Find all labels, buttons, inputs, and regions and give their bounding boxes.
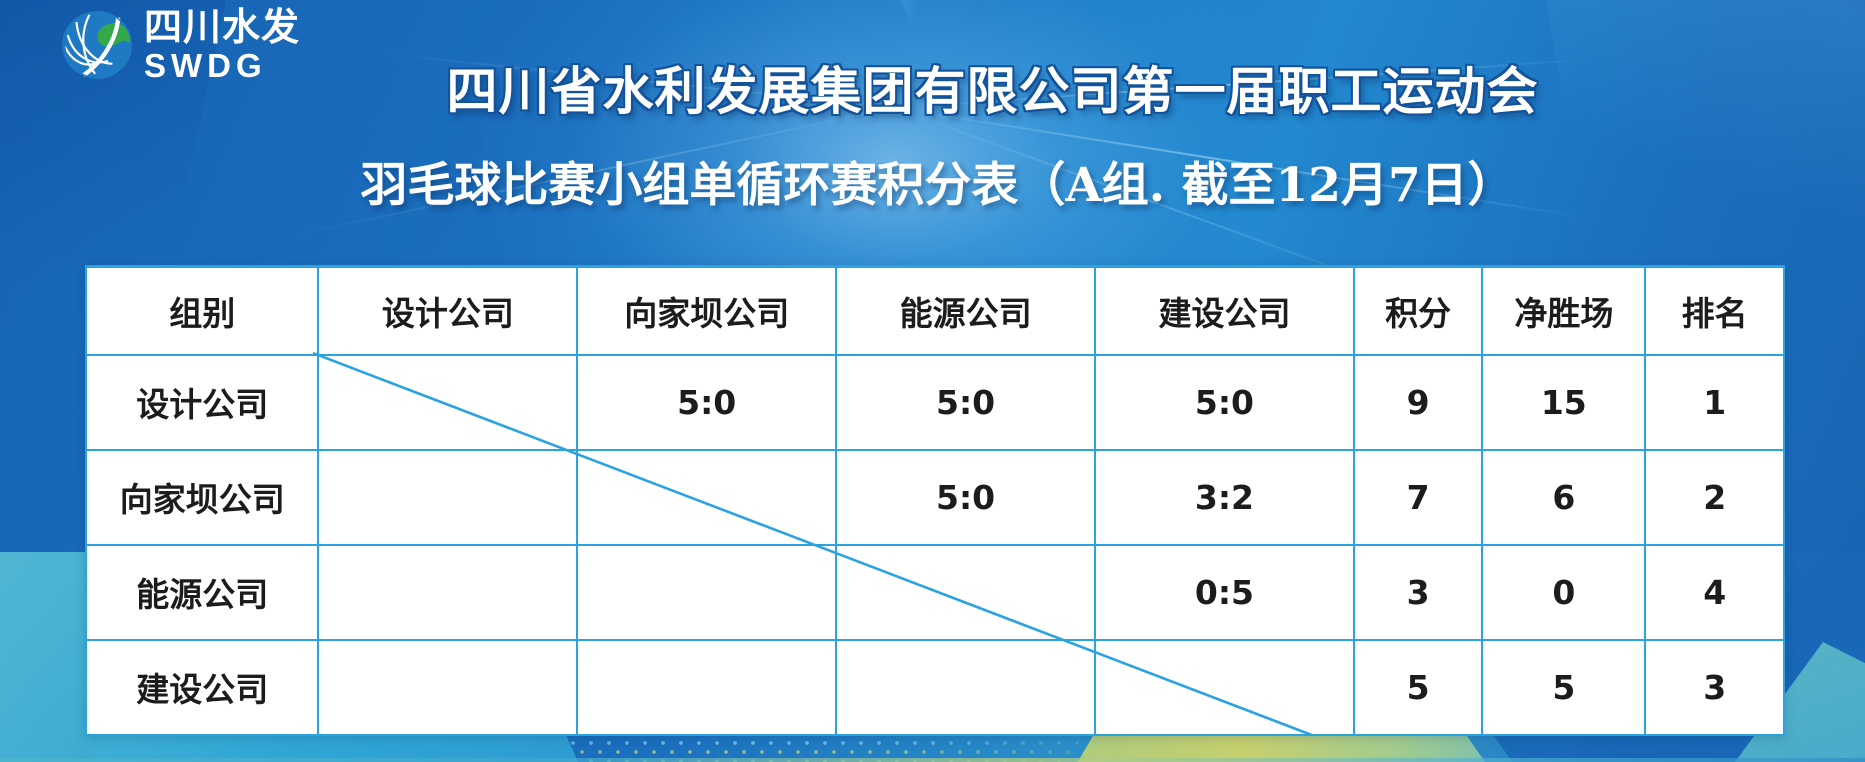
cell-points: 7: [1354, 450, 1482, 545]
cell-match-result: [318, 450, 577, 545]
cell-rank: 2: [1645, 450, 1784, 545]
cell-net-wins: 0: [1482, 545, 1645, 640]
column-header-rank: 排名: [1645, 267, 1784, 355]
column-header-group: 组别: [86, 267, 318, 355]
column-header-points: 积分: [1354, 267, 1482, 355]
cell-match-result: [577, 450, 836, 545]
cell-match-result: 0:5: [1095, 545, 1354, 640]
cell-match-result: [318, 545, 577, 640]
cell-team-name: 设计公司: [86, 355, 318, 450]
table-header-row: 组别 设计公司 向家坝公司 能源公司 建设公司 积分 净胜场 排名: [86, 267, 1784, 355]
cell-points: 9: [1354, 355, 1482, 450]
cell-rank: 4: [1645, 545, 1784, 640]
cell-match-result: 5:0: [836, 450, 1095, 545]
brand-name-cn: 四川水发: [144, 8, 300, 46]
table-row: 设计公司 5:0 5:0 5:0 9 15 1: [86, 355, 1784, 450]
table-row: 向家坝公司 5:0 3:2 7 6 2: [86, 450, 1784, 545]
bottom-band-accent-line: [0, 758, 1865, 762]
cell-match-result: 5:0: [577, 355, 836, 450]
column-header-design: 设计公司: [318, 267, 577, 355]
cell-net-wins: 6: [1482, 450, 1645, 545]
cell-match-result: [836, 640, 1095, 735]
title-block: 四川省水利发展集团有限公司第一届职工运动会 羽毛球比赛小组单循环赛积分表（A组.…: [0, 50, 1865, 215]
cell-points: 5: [1354, 640, 1482, 735]
table-row: 建设公司 5 5 3: [86, 640, 1784, 735]
cell-match-result: [577, 545, 836, 640]
table-head: 组别 设计公司 向家坝公司 能源公司 建设公司 积分 净胜场 排名: [86, 267, 1784, 355]
column-header-construction: 建设公司: [1095, 267, 1354, 355]
standings-table-container: 组别 设计公司 向家坝公司 能源公司 建设公司 积分 净胜场 排名 设计公司 5…: [85, 265, 1785, 736]
cell-net-wins: 5: [1482, 640, 1645, 735]
column-header-net-wins: 净胜场: [1482, 267, 1645, 355]
cell-team-name: 能源公司: [86, 545, 318, 640]
column-header-energy: 能源公司: [836, 267, 1095, 355]
cell-points: 3: [1354, 545, 1482, 640]
cell-match-result: 3:2: [1095, 450, 1354, 545]
cell-match-result: [318, 640, 577, 735]
cell-match-result: [577, 640, 836, 735]
standings-table: 组别 设计公司 向家坝公司 能源公司 建设公司 积分 净胜场 排名 设计公司 5…: [85, 265, 1785, 736]
cell-rank: 1: [1645, 355, 1784, 450]
cell-match-result: 5:0: [836, 355, 1095, 450]
table-row: 能源公司 0:5 3 0 4: [86, 545, 1784, 640]
cell-match-result: [318, 355, 577, 450]
cell-team-name: 建设公司: [86, 640, 318, 735]
table-body: 设计公司 5:0 5:0 5:0 9 15 1 向家坝公司 5:0 3:2 7 …: [86, 355, 1784, 735]
cell-rank: 3: [1645, 640, 1784, 735]
cell-team-name: 向家坝公司: [86, 450, 318, 545]
page-subtitle: 羽毛球比赛小组单循环赛积分表（A组. 截至12月7日）: [0, 146, 1865, 215]
cell-net-wins: 15: [1482, 355, 1645, 450]
cell-match-result: 5:0: [1095, 355, 1354, 450]
column-header-xiangjiaba: 向家坝公司: [577, 267, 836, 355]
cell-match-result: [836, 545, 1095, 640]
page-title: 四川省水利发展集团有限公司第一届职工运动会: [0, 50, 1865, 124]
cell-match-result: [1095, 640, 1354, 735]
